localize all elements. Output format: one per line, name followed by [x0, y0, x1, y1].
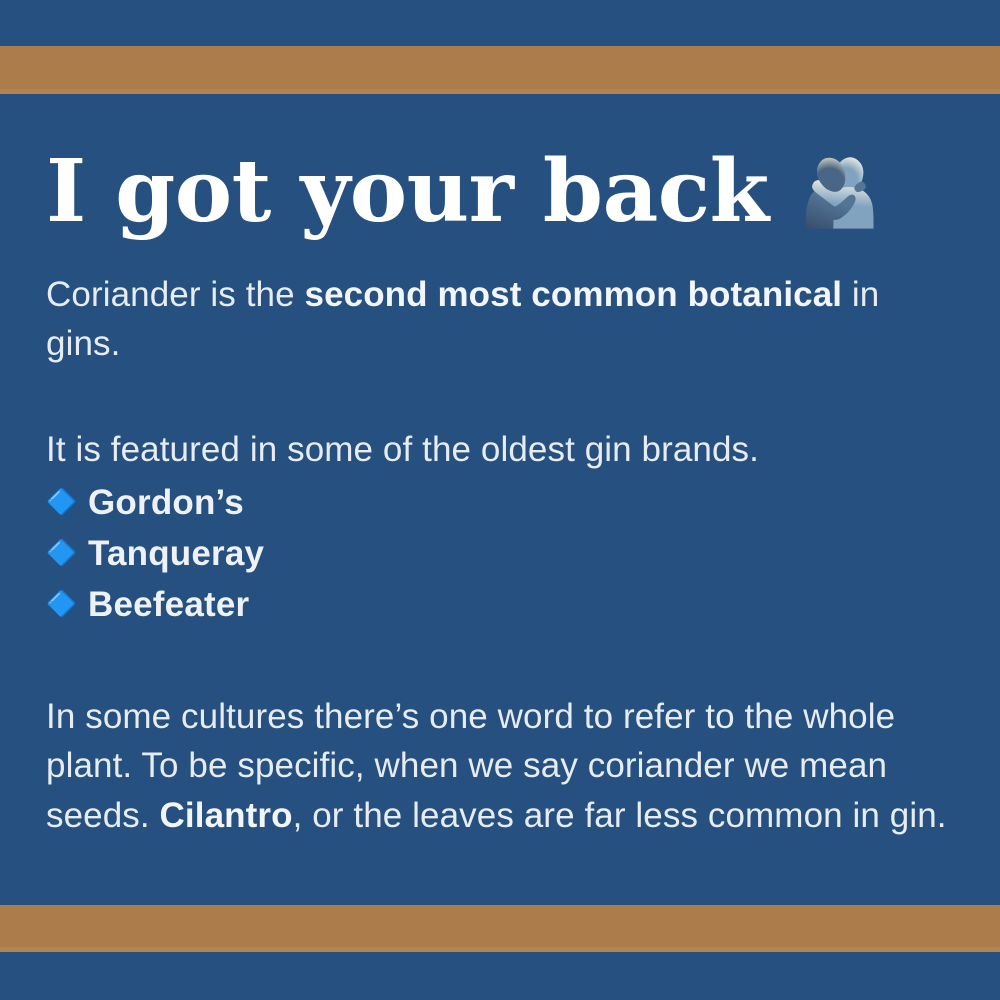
- paragraph-three: In some cultures there’s one word to ref…: [46, 692, 954, 841]
- slide-canvas: I got your back 🫂 Coriander is the secon…: [0, 0, 1000, 1000]
- spacer: [46, 636, 954, 692]
- top-decorative-band: [0, 46, 1000, 94]
- list-item: 🔷 Beefeater: [46, 585, 954, 625]
- paragraph-one-emphasis: second most common botanical: [305, 275, 843, 314]
- people-hugging-emoji: 🫂: [799, 159, 881, 225]
- list-item: 🔷 Gordon’s: [46, 483, 954, 523]
- bottom-decorative-band: [0, 905, 1000, 952]
- blue-diamond-icon: 🔷: [46, 541, 72, 566]
- brand-name: Beefeater: [88, 585, 249, 625]
- blue-diamond-icon: 🔷: [46, 592, 72, 617]
- paragraph-one: Coriander is the second most common bota…: [46, 270, 954, 369]
- slide-content: I got your back 🫂 Coriander is the secon…: [46, 148, 954, 841]
- paragraph-three-tail: , or the leaves are far less common in g…: [293, 796, 947, 835]
- spacer: [46, 369, 954, 425]
- brand-name: Tanqueray: [88, 534, 264, 574]
- paragraph-three-emphasis: Cilantro: [160, 796, 293, 835]
- brand-name: Gordon’s: [88, 483, 244, 523]
- blue-diamond-icon: 🔷: [46, 490, 72, 515]
- gin-brand-list: 🔷 Gordon’s 🔷 Tanqueray 🔷 Beefeater: [46, 483, 954, 625]
- list-item: 🔷 Tanqueray: [46, 534, 954, 574]
- paragraph-two: It is featured in some of the oldest gin…: [46, 425, 954, 475]
- page-title: I got your back 🫂: [46, 148, 954, 236]
- page-title-text: I got your back: [46, 148, 769, 236]
- paragraph-one-lead: Coriander is the: [46, 275, 305, 314]
